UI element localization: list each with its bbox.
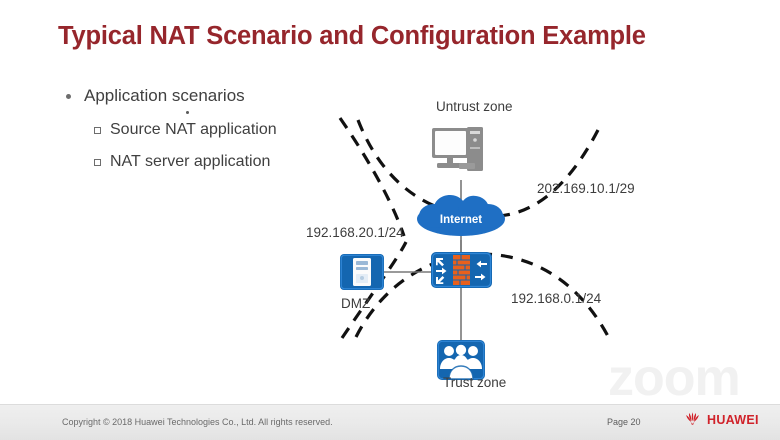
huawei-logo: HUAWEI <box>683 411 759 428</box>
footer-copyright: Copyright © 2018 Huawei Technologies Co.… <box>62 417 333 427</box>
zoom-watermark: zoom <box>608 352 740 404</box>
page-title: Typical NAT Scenario and Configuration E… <box>58 22 646 51</box>
bullet-level2-item: NAT server application <box>62 152 362 172</box>
bullet-level1-label: Application scenarios <box>84 86 245 105</box>
bullet-square-icon <box>94 127 101 134</box>
huawei-logo-text: HUAWEI <box>707 413 759 427</box>
bullet-square-icon <box>94 159 101 166</box>
wan-ip-label: 202.169.10.1/29 <box>537 181 635 196</box>
bullet-level2-label: Source NAT application <box>110 121 277 138</box>
bullet-list: Application scenarios Source NAT applica… <box>62 86 362 184</box>
bullet-dot-icon <box>66 94 71 99</box>
untrust-zone-label: Untrust zone <box>436 99 513 114</box>
trust-users-icon <box>437 340 485 380</box>
dmz-ip-label: 192.168.20.1/24 <box>306 225 404 240</box>
bullet-level1-item: Application scenarios <box>62 86 362 106</box>
slide-canvas: Typical NAT Scenario and Configuration E… <box>0 0 780 440</box>
internet-cloud-label: Internet <box>440 214 482 226</box>
bullet-level2-label: NAT server application <box>110 153 270 170</box>
dmz-zone-label: DMZ <box>341 296 370 311</box>
footer-page-number: Page 20 <box>607 417 641 427</box>
trust-zone-label: Trust zone <box>443 375 506 390</box>
firewall-icon <box>431 252 492 288</box>
stray-dot-artifact <box>186 111 189 114</box>
zone-boundary-upper-right <box>498 122 602 216</box>
untrust-pc-icon <box>432 127 483 171</box>
dmz-server-icon <box>340 254 384 290</box>
huawei-flower-icon <box>683 411 702 428</box>
bullet-level2-item: Source NAT application <box>62 120 362 140</box>
lan-ip-label: 192.168.0.1/24 <box>511 291 601 306</box>
